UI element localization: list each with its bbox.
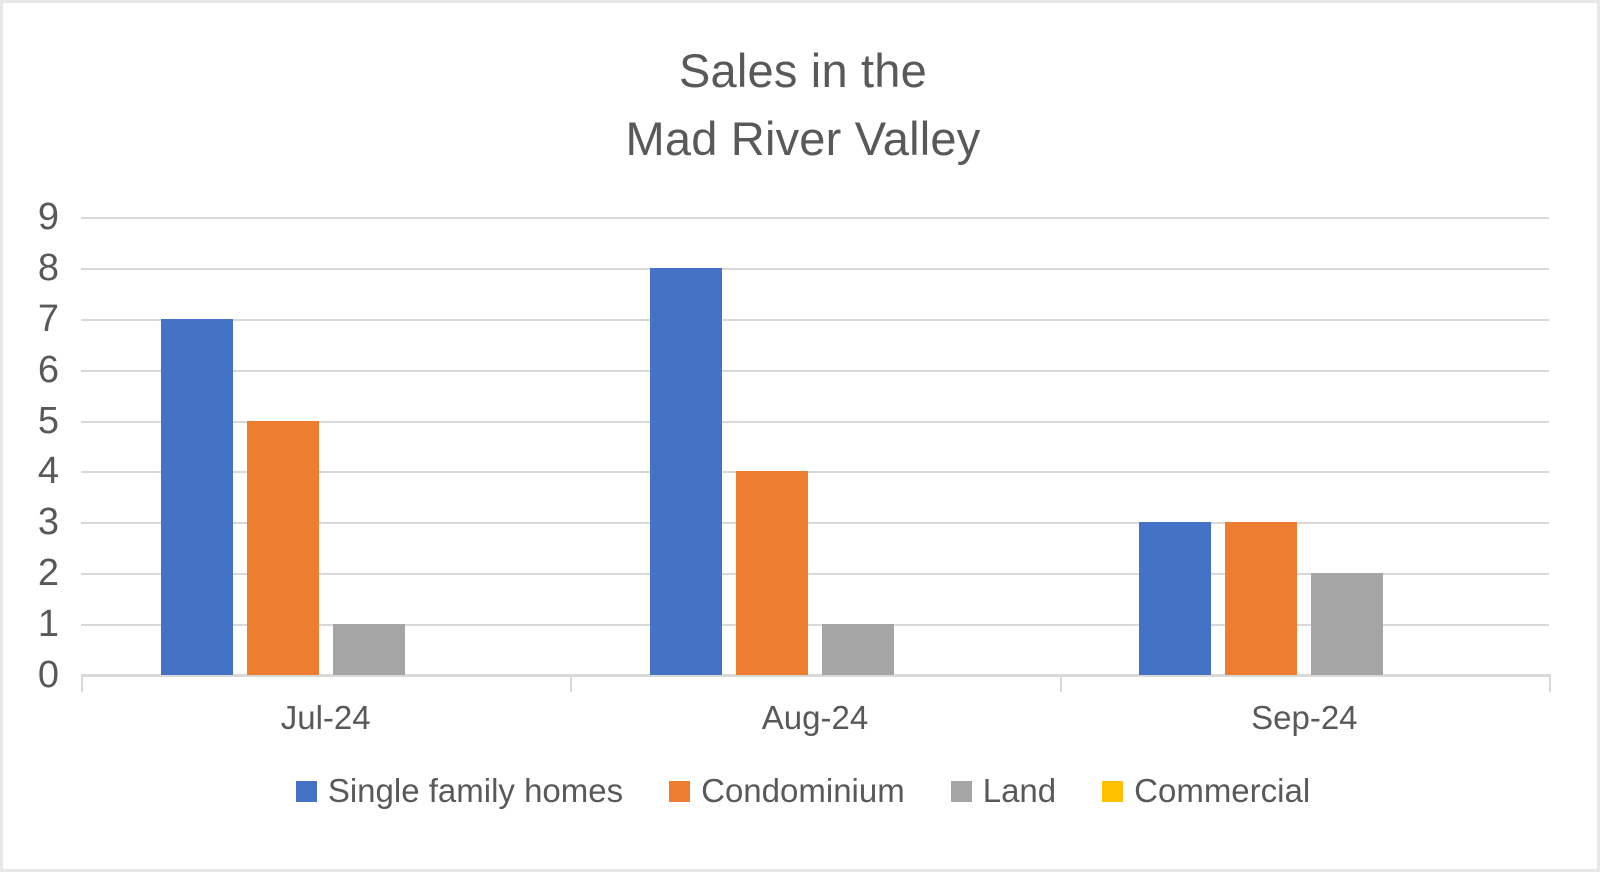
x-axis-tick — [1060, 674, 1062, 692]
y-axis-tick-label: 0 — [13, 656, 59, 694]
bar-single-family-homes-jul-24[interactable] — [161, 319, 233, 675]
bar-group-jul-24 — [81, 217, 570, 675]
bar-land-sep-24[interactable] — [1311, 573, 1383, 675]
legend-swatch-icon — [669, 781, 690, 802]
legend-item-single-family-homes[interactable]: Single family homes — [296, 771, 623, 811]
y-axis-tick-label: 2 — [13, 554, 59, 592]
bar-land-jul-24[interactable] — [333, 624, 405, 675]
x-axis-tick — [81, 674, 83, 692]
legend-swatch-icon — [1102, 781, 1123, 802]
y-axis-tick-label: 9 — [13, 198, 59, 236]
y-axis-tick-label: 3 — [13, 503, 59, 541]
bars-layer — [81, 217, 1549, 675]
bar-single-family-homes-aug-24[interactable] — [650, 268, 722, 675]
chart-container: Sales in the Mad River Valley 9876543210… — [0, 0, 1600, 872]
y-axis-tick-label: 7 — [13, 300, 59, 338]
legend-swatch-icon — [951, 781, 972, 802]
bar-group-aug-24 — [570, 217, 1059, 675]
bar-single-family-homes-sep-24[interactable] — [1139, 522, 1211, 675]
y-axis-tick-label: 8 — [13, 249, 59, 287]
x-axis-label-aug-24: Aug-24 — [570, 695, 1059, 741]
x-axis: Jul-24Aug-24Sep-24 — [81, 695, 1549, 747]
bar-condominium-aug-24[interactable] — [736, 471, 808, 675]
x-axis-label-sep-24: Sep-24 — [1060, 695, 1549, 741]
y-axis-tick-label: 5 — [13, 402, 59, 440]
bar-condominium-jul-24[interactable] — [247, 421, 319, 675]
x-axis-label-jul-24: Jul-24 — [81, 695, 570, 741]
x-axis-tick — [1549, 674, 1551, 692]
legend-label: Single family homes — [328, 771, 623, 811]
legend-label: Land — [983, 771, 1056, 811]
x-axis-tick — [570, 674, 572, 692]
chart-title-line-2: Mad River Valley — [3, 105, 1600, 173]
legend-item-commercial[interactable]: Commercial — [1102, 771, 1310, 811]
bar-land-aug-24[interactable] — [822, 624, 894, 675]
bar-group-sep-24 — [1060, 217, 1549, 675]
y-axis-tick-label: 4 — [13, 452, 59, 490]
y-axis-tick-label: 1 — [13, 605, 59, 643]
legend-item-condominium[interactable]: Condominium — [669, 771, 905, 811]
legend-swatch-icon — [296, 781, 317, 802]
legend-item-land[interactable]: Land — [951, 771, 1056, 811]
y-axis-tick-label: 6 — [13, 351, 59, 389]
bar-condominium-sep-24[interactable] — [1225, 522, 1297, 675]
legend-label: Commercial — [1134, 771, 1310, 811]
chart-title: Sales in the Mad River Valley — [3, 37, 1600, 173]
chart-title-line-1: Sales in the — [3, 37, 1600, 105]
chart-legend: Single family homesCondominiumLandCommer… — [3, 771, 1600, 811]
y-axis: 9876543210 — [3, 3, 81, 872]
legend-label: Condominium — [701, 771, 905, 811]
